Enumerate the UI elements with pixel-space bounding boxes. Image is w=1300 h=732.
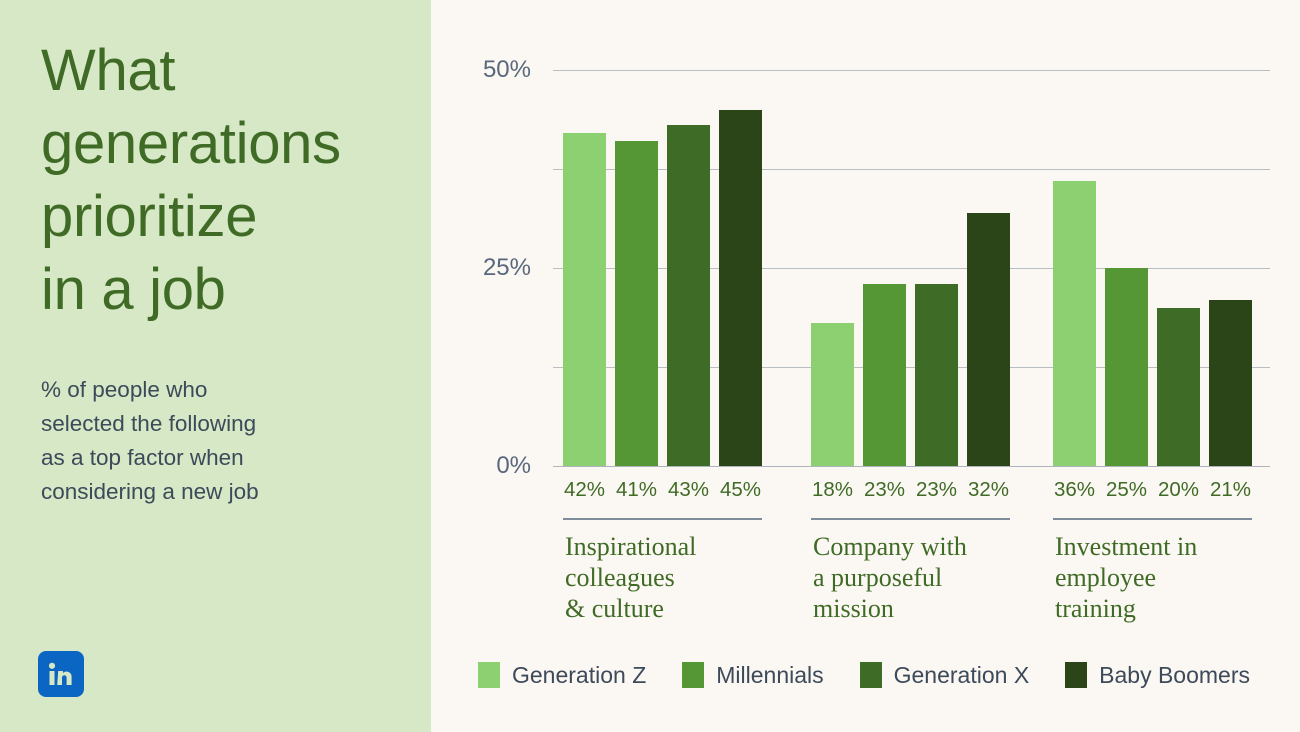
category-label: Company with a purposeful mission: [813, 531, 1052, 624]
bar: [563, 133, 606, 466]
category-label: Inspirational colleagues & culture: [565, 531, 804, 624]
legend-label: Generation X: [894, 662, 1030, 689]
legend-item[interactable]: Generation X: [860, 662, 1030, 689]
bar: [667, 125, 710, 466]
legend-swatch-icon: [682, 662, 704, 688]
bar-value-label: 23%: [915, 478, 958, 502]
bar-value-label: 45%: [719, 478, 762, 502]
bar: [1209, 300, 1252, 466]
legend-item[interactable]: Generation Z: [478, 662, 646, 689]
gridline-0: [553, 466, 1270, 467]
category-group-rule: [1053, 518, 1252, 520]
legend-swatch-icon: [478, 662, 500, 688]
infographic-root: What generations prioritize in a job % o…: [0, 0, 1300, 732]
bar-value-label: 23%: [863, 478, 906, 502]
bar: [967, 213, 1010, 466]
legend-item[interactable]: Baby Boomers: [1065, 662, 1250, 689]
y-axis-label-25: 25%: [483, 254, 531, 282]
bar-value-label: 21%: [1209, 478, 1252, 502]
legend-item[interactable]: Millennials: [682, 662, 823, 689]
bar-value-label: 20%: [1157, 478, 1200, 502]
y-axis-label-0: 0%: [496, 452, 531, 480]
bar-value-label: 42%: [563, 478, 606, 502]
plot-area: 50%25%0%: [553, 70, 1270, 466]
bar: [719, 110, 762, 466]
bar: [1053, 181, 1096, 466]
bar-value-label: 25%: [1105, 478, 1148, 502]
legend-swatch-icon: [1065, 662, 1087, 688]
bar: [1105, 268, 1148, 466]
bar-value-label: 43%: [667, 478, 710, 502]
linkedin-logo: [38, 651, 84, 697]
page-title: What generations prioritize in a job: [41, 34, 421, 326]
chart-panel: 50%25%0% 42%41%43%45%18%23%23%32%36%25%2…: [431, 0, 1300, 732]
bar-value-label: 36%: [1053, 478, 1096, 502]
legend-label: Baby Boomers: [1099, 662, 1250, 689]
bar-value-label: 18%: [811, 478, 854, 502]
bars-layer: [553, 70, 1270, 466]
bar: [615, 141, 658, 466]
bar: [915, 284, 958, 466]
legend-swatch-icon: [860, 662, 882, 688]
chart-legend: Generation ZMillennialsGeneration XBaby …: [478, 660, 1286, 690]
legend-label: Generation Z: [512, 662, 646, 689]
bar: [863, 284, 906, 466]
legend-label: Millennials: [716, 662, 823, 689]
bar: [811, 323, 854, 466]
y-axis-label-50: 50%: [483, 56, 531, 84]
page-subtitle: % of people who selected the following a…: [41, 373, 371, 509]
category-group-rule: [563, 518, 762, 520]
bar-value-labels: 42%41%43%45%18%23%23%32%36%25%20%21%: [553, 478, 1270, 508]
bar-value-label: 41%: [615, 478, 658, 502]
bar: [1157, 308, 1200, 466]
left-panel: What generations prioritize in a job % o…: [0, 0, 431, 732]
bar-value-label: 32%: [967, 478, 1010, 502]
category-group-rule: [811, 518, 1010, 520]
category-label: Investment in employee training: [1055, 531, 1294, 624]
